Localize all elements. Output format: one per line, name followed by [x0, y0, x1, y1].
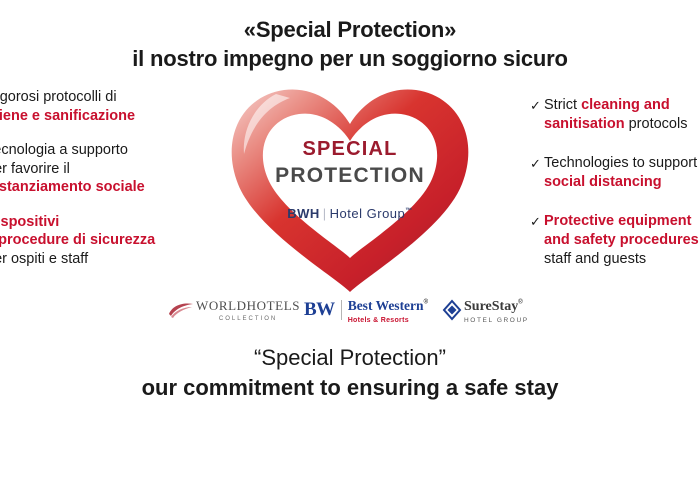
worldhotels-wordmark: WORLDHOTELS COLLECTION [196, 298, 300, 322]
right-bullet-3-red: Protective equipment and safety procedur… [544, 213, 699, 248]
left-bullet-3-line2: e procedure di sicurezza [0, 231, 186, 250]
check-icon: ✓ [530, 154, 541, 173]
right-bullet-column: ✓ Strict cleaning and sanitisation proto… [530, 96, 700, 289]
left-bullet-2-line3: distanziamento sociale [0, 178, 186, 197]
surestay-name: SureStay [464, 299, 518, 314]
bestwestern-wordmark: Best Western® Hotels & Resorts [348, 297, 428, 324]
worldhotels-sub: COLLECTION [196, 316, 300, 322]
brand-surestay: SureStay® HOTEL GROUP [440, 293, 529, 327]
bestwestern-tm: ® [424, 299, 428, 305]
heart-icon [216, 80, 484, 300]
right-bullet-2-pre: Technologies to support [544, 155, 697, 171]
right-bullet-1: ✓ Strict cleaning and sanitisation proto… [530, 96, 700, 134]
surestay-diamond-icon [440, 299, 464, 321]
left-bullet-3-line3: per ospiti e staff [0, 250, 186, 269]
surestay-sub: HOTEL GROUP [464, 317, 529, 324]
bestwestern-divider [341, 300, 342, 320]
right-bullet-3: ✓ Protective equipment and safety proced… [530, 212, 700, 269]
footer-title: “Special Protection” our commitment to e… [0, 343, 700, 403]
title-line-italian-2: il nostro impegno per un soggiorno sicur… [0, 44, 700, 74]
left-bullet-column: Rigorosi protocolli di igiene e sanifica… [0, 88, 186, 284]
bestwestern-mark: BW [304, 299, 335, 321]
left-bullet-2: Tecnologia a supporto per favorire il di… [0, 141, 186, 197]
worldhotels-name: WORLDHOTELS [196, 298, 300, 313]
check-icon: ✓ [530, 96, 541, 115]
heart-graphic: SPECIAL PROTECTION BWH|Hotel Group™ [216, 80, 484, 300]
right-bullet-1-pre: Strict [544, 97, 581, 113]
footer-line-english-1: “Special Protection” [0, 343, 700, 373]
brand-worldhotels: WORLDHOTELS COLLECTION [166, 293, 300, 327]
brand-bestwestern: BW Best Western® Hotels & Resorts [304, 293, 428, 327]
left-bullet-3-line1: Dispositivi [0, 213, 186, 232]
footer-line-english-2: our commitment to ensuring a safe stay [0, 373, 700, 403]
left-bullet-3: Dispositivi e procedure di sicurezza per… [0, 213, 186, 269]
right-bullet-2-red: social distancing [544, 174, 662, 190]
left-bullet-2-line2: per favorire il [0, 160, 186, 179]
bestwestern-sub: Hotels & Resorts [348, 317, 428, 324]
left-bullet-1-line2: igiene e sanificazione [0, 107, 186, 126]
right-bullet-2: ✓ Technologies to support social distanc… [530, 154, 700, 192]
title-line-italian-1: «Special Protection» [0, 16, 700, 44]
brand-logo-row: WORLDHOTELS COLLECTION BW Best Western® … [160, 293, 560, 327]
surestay-wordmark: SureStay® HOTEL GROUP [464, 297, 529, 324]
poster-canvas: «Special Protection» il nostro impegno p… [0, 0, 700, 500]
bestwestern-name: Best Western [348, 298, 424, 313]
right-bullet-1-post: protocols [625, 116, 688, 132]
worldhotels-swoosh-icon [166, 299, 196, 321]
surestay-tm: ® [518, 299, 522, 305]
page-title: «Special Protection» il nostro impegno p… [0, 16, 700, 74]
check-icon: ✓ [530, 212, 541, 231]
left-bullet-1: Rigorosi protocolli di igiene e sanifica… [0, 88, 186, 125]
left-bullet-2-line1: Tecnologia a supporto [0, 141, 186, 160]
left-bullet-1-line1: Rigorosi protocolli di [0, 88, 186, 107]
